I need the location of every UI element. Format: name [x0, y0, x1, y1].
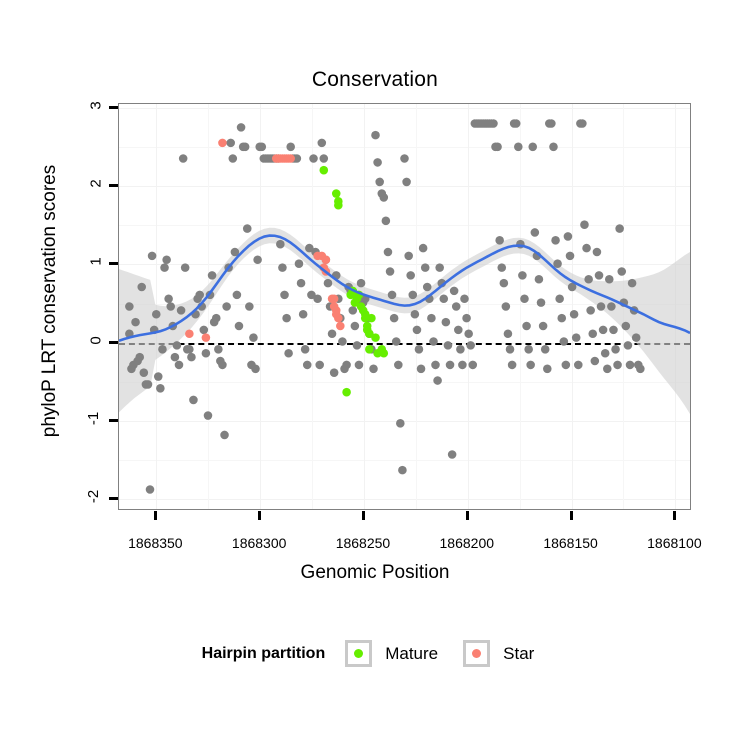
data-point-other	[446, 361, 455, 370]
data-point-other	[235, 322, 244, 331]
data-point-mature	[351, 298, 360, 307]
legend: Hairpin partition Mature Star	[0, 640, 750, 667]
x-tick-mark	[154, 511, 157, 520]
data-point-other	[400, 154, 409, 163]
legend-key-star[interactable]	[463, 640, 490, 667]
data-point-other	[609, 326, 618, 335]
data-point-star	[334, 314, 343, 323]
data-point-other	[626, 361, 635, 370]
data-point-other	[504, 329, 513, 338]
data-point-other	[135, 353, 144, 362]
data-point-other	[406, 271, 415, 280]
data-point-other	[433, 376, 442, 385]
data-point-other	[520, 294, 529, 303]
data-point-other	[243, 224, 252, 233]
data-point-other	[582, 244, 591, 253]
data-point-other	[454, 326, 463, 335]
y-tick-mark	[109, 341, 118, 344]
data-point-mature	[367, 314, 376, 323]
data-point-other	[622, 322, 631, 331]
legend-dot-mature	[354, 649, 363, 658]
data-point-other	[371, 131, 380, 140]
data-point-other	[278, 263, 287, 272]
data-point-other	[144, 380, 153, 389]
y-tick-label: -1	[0, 410, 100, 427]
data-point-other	[537, 298, 546, 307]
data-point-other	[222, 302, 231, 311]
data-point-other	[301, 345, 310, 354]
y-tick-label: -2	[0, 488, 100, 505]
data-point-other	[462, 314, 471, 323]
y-tick-mark	[109, 184, 118, 187]
legend-key-mature[interactable]	[345, 640, 372, 667]
data-point-other	[599, 326, 608, 335]
data-point-other	[276, 240, 285, 249]
x-tick-label: 1868300	[199, 535, 319, 551]
data-point-other	[353, 341, 362, 350]
data-point-other	[204, 411, 213, 420]
data-point-other	[514, 143, 523, 152]
data-point-other	[214, 345, 223, 354]
scatter-overlay	[119, 104, 690, 509]
data-point-other	[241, 143, 250, 152]
data-point-other	[526, 361, 535, 370]
data-point-other	[189, 396, 198, 405]
legend-title: Hairpin partition	[202, 645, 326, 663]
data-point-other	[636, 365, 645, 374]
data-point-other	[460, 294, 469, 303]
data-point-other	[185, 345, 194, 354]
data-point-other	[566, 252, 575, 261]
y-axis-title: phyloP LRT conservation scores	[39, 91, 61, 511]
data-point-other	[390, 314, 399, 323]
data-point-other	[218, 361, 227, 370]
data-point-other	[131, 318, 140, 327]
data-point-other	[348, 306, 357, 315]
data-point-other	[497, 263, 506, 272]
x-tick-mark	[466, 511, 469, 520]
data-point-other	[574, 361, 583, 370]
data-point-other	[448, 450, 457, 459]
data-point-other	[578, 119, 587, 128]
data-point-other	[595, 271, 604, 280]
data-point-other	[154, 372, 163, 381]
data-point-other	[152, 310, 161, 319]
data-point-other	[597, 302, 606, 311]
data-point-other	[338, 337, 347, 346]
data-point-other	[413, 326, 422, 335]
data-point-mature	[319, 166, 328, 175]
data-point-other	[588, 329, 597, 338]
data-point-other	[179, 154, 188, 163]
data-point-other	[342, 361, 351, 370]
data-point-other	[396, 419, 405, 428]
x-tick-label: 1868200	[407, 535, 527, 551]
data-point-other	[580, 220, 589, 229]
data-point-other	[357, 279, 366, 288]
y-tick-label: 2	[0, 175, 100, 192]
data-point-star	[202, 333, 211, 342]
data-point-other	[146, 485, 155, 494]
data-point-other	[355, 361, 364, 370]
data-point-other	[404, 252, 413, 261]
x-tick-mark	[362, 511, 365, 520]
data-point-other	[319, 154, 328, 163]
data-point-other	[500, 279, 509, 288]
x-tick-label: 1868250	[303, 535, 423, 551]
data-point-other	[564, 232, 573, 241]
data-point-other	[140, 368, 149, 377]
data-point-other	[313, 294, 322, 303]
data-point-other	[541, 345, 550, 354]
chart-root: Conservation phyloP LRT conservation sco…	[0, 0, 750, 750]
data-point-other	[586, 306, 595, 315]
data-point-other	[502, 302, 511, 311]
data-point-star	[330, 294, 339, 303]
data-point-mature	[379, 349, 388, 358]
data-point-other	[249, 333, 258, 342]
data-point-other	[328, 329, 337, 338]
data-point-other	[464, 329, 473, 338]
data-point-other	[137, 283, 146, 292]
data-point-other	[369, 365, 378, 374]
data-point-other	[384, 248, 393, 257]
data-point-other	[435, 263, 444, 272]
data-point-other	[553, 259, 562, 268]
data-point-other	[458, 361, 467, 370]
data-point-other	[280, 291, 289, 300]
data-point-other	[220, 431, 229, 440]
data-point-other	[628, 279, 637, 288]
data-point-other	[375, 178, 384, 187]
y-tick-mark	[109, 262, 118, 265]
x-axis-title: Genomic Position	[0, 562, 750, 584]
data-point-star	[218, 139, 227, 148]
data-point-other	[466, 341, 475, 350]
data-point-other	[549, 143, 558, 152]
data-point-other	[379, 193, 388, 202]
data-point-other	[299, 310, 308, 319]
data-point-other	[195, 291, 204, 300]
page-title: Conservation	[0, 68, 750, 92]
data-point-other	[450, 287, 459, 296]
data-point-other	[330, 368, 339, 377]
data-point-other	[373, 158, 382, 167]
data-point-other	[351, 322, 360, 331]
data-point-other	[468, 361, 477, 370]
data-point-other	[452, 302, 461, 311]
data-point-other	[562, 361, 571, 370]
data-point-other	[427, 314, 436, 323]
data-point-other	[318, 139, 327, 148]
data-point-star	[185, 329, 194, 338]
data-point-other	[226, 139, 235, 148]
data-point-other	[125, 302, 134, 311]
data-point-other	[429, 337, 438, 346]
data-point-other	[431, 361, 440, 370]
data-point-other	[148, 252, 157, 261]
data-point-other	[543, 365, 552, 374]
x-tick-label: 1868350	[95, 535, 215, 551]
data-point-other	[419, 244, 428, 253]
data-point-other	[237, 123, 246, 132]
data-point-other	[603, 365, 612, 374]
data-point-other	[423, 283, 432, 292]
data-point-other	[245, 302, 254, 311]
data-point-other	[388, 291, 397, 300]
data-point-other	[171, 353, 180, 362]
data-point-other	[156, 384, 165, 393]
data-point-other	[286, 143, 295, 152]
data-point-other	[613, 361, 622, 370]
plot-panel	[118, 103, 691, 510]
data-point-other	[442, 318, 451, 327]
x-tick-label: 1868100	[614, 535, 734, 551]
data-point-other	[303, 361, 312, 370]
data-point-other	[295, 259, 304, 268]
data-point-other	[508, 361, 517, 370]
data-point-star	[322, 255, 331, 264]
data-point-other	[506, 345, 515, 354]
data-point-mature	[371, 333, 380, 342]
data-point-other	[489, 119, 498, 128]
data-point-other	[417, 365, 426, 374]
legend-dot-star	[472, 649, 481, 658]
data-point-other	[524, 345, 533, 354]
data-point-other	[229, 154, 238, 163]
data-point-other	[632, 333, 641, 342]
data-point-other	[158, 345, 167, 354]
data-point-mature	[365, 345, 374, 354]
x-tick-mark	[673, 511, 676, 520]
data-point-other	[624, 341, 633, 350]
data-point-mature	[342, 388, 351, 397]
data-point-other	[382, 217, 391, 226]
data-point-other	[251, 365, 260, 374]
data-point-other	[187, 353, 196, 362]
data-point-other	[557, 314, 566, 323]
data-point-other	[493, 143, 502, 152]
data-point-other	[456, 345, 465, 354]
data-point-other	[282, 314, 291, 323]
data-point-other	[162, 255, 171, 264]
x-tick-mark	[570, 511, 573, 520]
data-point-other	[415, 345, 424, 354]
data-point-other	[398, 466, 407, 475]
data-point-star	[286, 154, 295, 163]
data-point-other	[175, 361, 184, 370]
data-point-other	[512, 119, 521, 128]
data-point-other	[535, 275, 544, 284]
data-point-other	[615, 224, 624, 233]
data-point-other	[212, 314, 221, 323]
y-tick-label: 3	[0, 97, 100, 114]
data-point-other	[593, 248, 602, 257]
data-point-other	[560, 337, 569, 346]
data-point-other	[164, 294, 173, 303]
data-point-other	[200, 326, 209, 335]
data-point-other	[253, 255, 262, 264]
x-tick-mark	[258, 511, 261, 520]
data-point-other	[518, 271, 527, 280]
data-point-other	[551, 236, 560, 245]
data-point-star	[336, 322, 345, 331]
data-point-other	[309, 154, 318, 163]
data-point-other	[570, 310, 579, 319]
data-point-other	[411, 310, 420, 319]
x-tick-label: 1868150	[511, 535, 631, 551]
data-point-other	[181, 263, 190, 272]
data-point-other	[495, 236, 504, 245]
data-point-other	[522, 322, 531, 331]
data-point-other	[392, 337, 401, 346]
data-point-other	[439, 294, 448, 303]
data-point-other	[284, 349, 293, 358]
y-tick-mark	[109, 106, 118, 109]
data-point-other	[394, 361, 403, 370]
y-tick-mark	[109, 419, 118, 422]
data-point-other	[555, 294, 564, 303]
data-point-other	[208, 271, 217, 280]
data-point-other	[617, 267, 626, 276]
data-point-other	[173, 341, 182, 350]
y-tick-label: 1	[0, 253, 100, 270]
data-point-other	[386, 267, 395, 276]
data-point-other	[591, 357, 600, 366]
legend-label-mature: Mature	[385, 644, 438, 664]
data-point-other	[315, 361, 324, 370]
data-point-mature	[334, 201, 343, 210]
data-point-other	[572, 333, 581, 342]
data-point-other	[611, 345, 620, 354]
data-point-other	[166, 302, 175, 311]
data-point-mature	[332, 189, 341, 198]
data-point-other	[528, 143, 537, 152]
y-tick-label: 0	[0, 332, 100, 349]
data-point-other	[607, 302, 616, 311]
data-point-other	[584, 275, 593, 284]
data-point-other	[601, 349, 610, 358]
data-point-other	[605, 275, 614, 284]
data-point-other	[160, 263, 169, 272]
data-point-other	[177, 306, 186, 315]
data-point-other	[202, 349, 211, 358]
data-point-other	[444, 341, 453, 350]
data-point-other	[531, 228, 540, 237]
data-point-other	[421, 263, 430, 272]
data-point-other	[539, 322, 548, 331]
data-point-other	[297, 279, 306, 288]
data-point-other	[258, 143, 267, 152]
data-point-other	[402, 178, 411, 187]
legend-label-star: Star	[503, 644, 534, 664]
data-point-other	[233, 291, 242, 300]
data-point-other	[324, 279, 333, 288]
y-tick-mark	[109, 497, 118, 500]
data-point-other	[547, 119, 556, 128]
data-point-other	[408, 291, 417, 300]
